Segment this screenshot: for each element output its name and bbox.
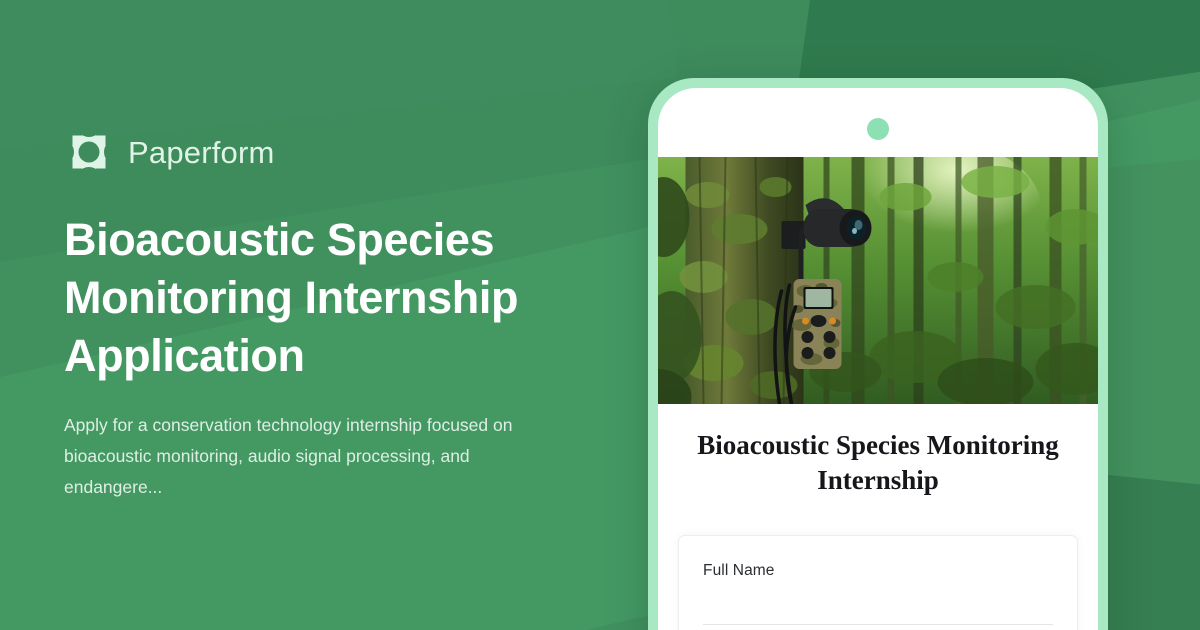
page-description: Apply for a conservation technology inte… bbox=[64, 410, 544, 502]
brand-lockup: Paperform bbox=[64, 127, 644, 177]
paperform-logo-icon bbox=[64, 127, 114, 177]
full-name-input-underline[interactable] bbox=[703, 624, 1053, 625]
phone-screen: Bioacoustic Species Monitoring Internshi… bbox=[658, 88, 1098, 630]
camera-dot-icon bbox=[867, 118, 889, 140]
field-label-full-name: Full Name bbox=[703, 562, 1053, 580]
phone-mockup: Bioacoustic Species Monitoring Internshi… bbox=[648, 78, 1108, 630]
hero-content: Paperform Bioacoustic Species Monitoring… bbox=[64, 0, 644, 630]
brand-name: Paperform bbox=[128, 137, 275, 168]
form-title: Bioacoustic Species Monitoring Internshi… bbox=[688, 428, 1068, 497]
page-title: Bioacoustic Species Monitoring Internshi… bbox=[64, 211, 604, 384]
form-card: Full Name bbox=[678, 535, 1078, 630]
form-hero-image bbox=[658, 157, 1098, 404]
